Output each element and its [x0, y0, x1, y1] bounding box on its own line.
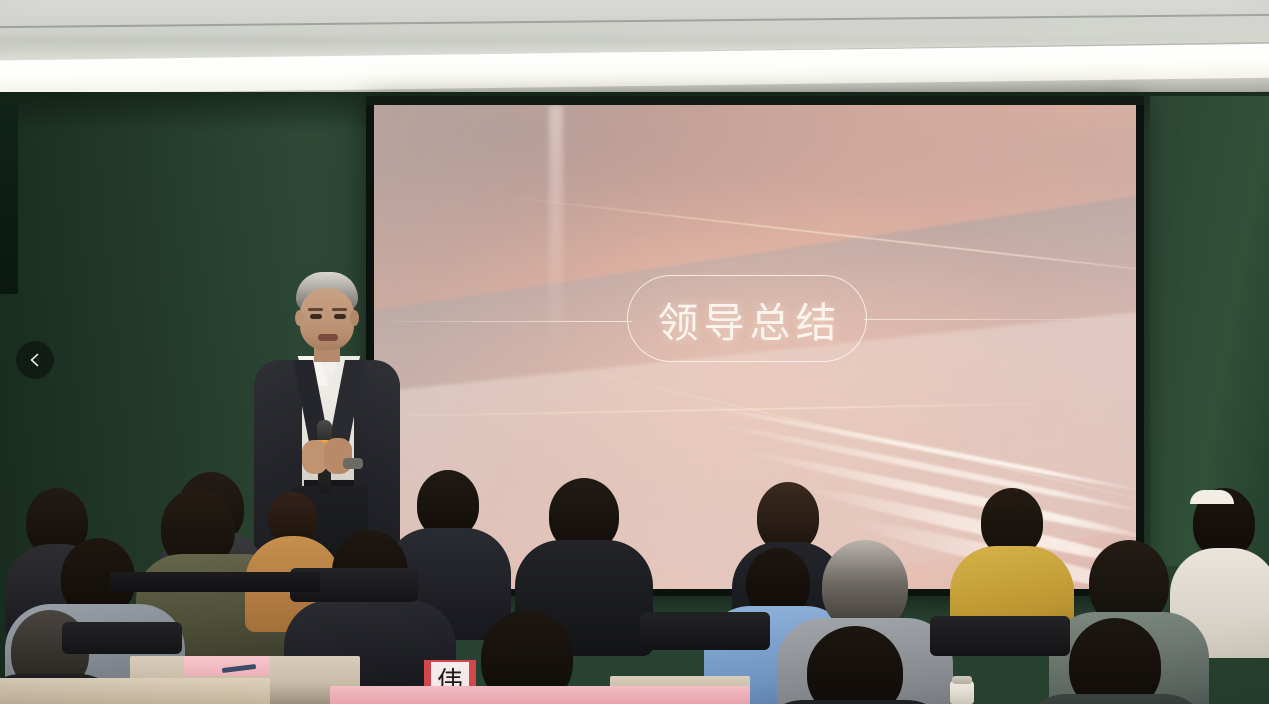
front-table-rail [330, 686, 750, 704]
attendee-yellow-jacket [960, 488, 1064, 634]
photo-viewer: 领导总结 [0, 0, 1269, 704]
slide-title-rule-left [374, 321, 632, 322]
projector-streak [549, 105, 563, 365]
slide-title-text: 领导总结 [653, 289, 842, 349]
left-door-edge [0, 104, 18, 294]
presenter-brow-right [332, 308, 347, 311]
chair-back [62, 622, 182, 654]
head [807, 626, 903, 704]
audience [0, 430, 1269, 704]
presenter-ear-left [295, 310, 304, 326]
chevron-left-icon [27, 352, 43, 368]
screen-bezel-top [366, 96, 1144, 105]
head [1069, 618, 1161, 704]
presenter-mouth [318, 334, 338, 341]
water-bottle-cap [952, 676, 972, 684]
chair-back [640, 612, 770, 650]
presenter-ear-right [350, 310, 359, 326]
attendee-black-coat [530, 478, 638, 628]
paper-sheet [184, 656, 270, 676]
slide-title-pill: 领导总结 [627, 275, 867, 362]
slide-title-rule-right [864, 319, 1136, 320]
torso [757, 700, 953, 704]
presenter-eye-left [310, 314, 322, 319]
desk-edge [110, 572, 320, 592]
front-table-left [0, 678, 270, 704]
prev-photo-button[interactable] [16, 341, 54, 379]
presenter-eye-right [334, 314, 346, 319]
attendee-front-right [780, 626, 930, 704]
headband-accessory [1190, 490, 1234, 504]
ceiling-seam [0, 14, 1269, 28]
presenter-brow-left [308, 308, 323, 311]
torso [1020, 694, 1210, 704]
chair-back [930, 616, 1070, 656]
